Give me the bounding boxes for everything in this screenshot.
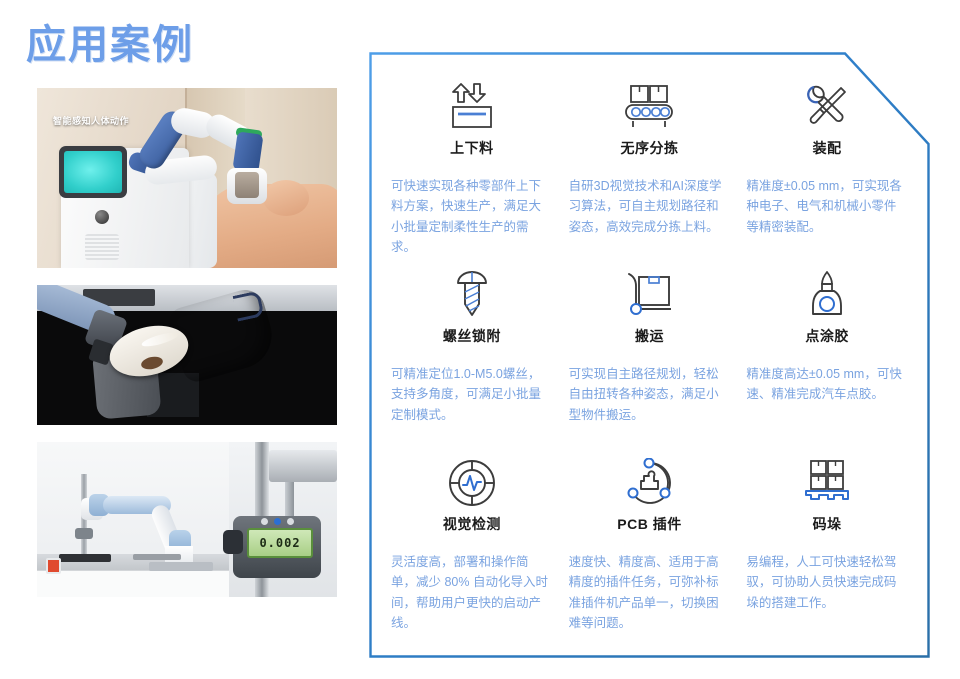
card-assembly[interactable]: 装配 精准度±0.05 mm，可实现各种电子、电气和机械小零件等精密装配。 [738, 78, 916, 266]
card-random-sorting[interactable]: 无序分拣 自研3D视觉技术和AI深度学习算法，可自主规划路径和姿态，高效完成分拣… [561, 78, 739, 266]
photo3-plate [149, 562, 213, 571]
card-description: 可精准定位1.0-M5.0螺丝，支持多角度，可满足小批量定制模式。 [391, 364, 553, 425]
card-title: PCB 插件 [617, 514, 681, 534]
card-description: 灵活度高，部署和操作简单，减少 80% 自动化导入时间，帮助用户更快的启动产线。 [391, 552, 553, 633]
photo3-dial-indicator-reading: 0.002 [247, 528, 313, 558]
photo3-cylinder [269, 450, 337, 482]
card-description: 精准度高达±0.05 mm，可快速、精准完成汽车点胶。 [746, 364, 908, 405]
photo3-plate-secondary [133, 554, 181, 560]
card-title: 无序分拣 [620, 138, 678, 158]
photo1-display-screen [64, 151, 122, 193]
glue-bottle-icon [805, 266, 849, 324]
card-vision-inspection[interactable]: 视觉检测 灵活度高，部署和操作简单，减少 80% 自动化导入时间，帮助用户更快的… [383, 454, 561, 642]
photo3-stand-base [59, 554, 111, 562]
photo1-end-effector-tool [235, 172, 259, 198]
card-title: 螺丝锁附 [443, 326, 501, 346]
vision-inspection-icon [447, 454, 497, 512]
card-title: 上下料 [450, 138, 494, 158]
photo1-display-bezel [59, 146, 127, 198]
card-palletizing[interactable]: 码垛 易编程，人工可快速轻松驾驭，可协助人员快速完成码垛的搭建工作。 [738, 454, 916, 642]
photo3-emergency-button [46, 558, 61, 574]
card-title: 点涂胶 [805, 326, 849, 346]
robot-arm-precision-gauge-photo: 0.002 [37, 442, 337, 597]
load-unload-icon [447, 78, 497, 136]
photo1-human-head [263, 180, 309, 216]
photo3-dial-indicator-buttons [261, 518, 297, 526]
card-title: 搬运 [635, 326, 664, 346]
card-description: 自研3D视觉技术和AI深度学习算法，可自主规划路径和姿态，高效完成分拣上料。 [569, 176, 731, 237]
conveyor-sorting-icon [622, 78, 676, 136]
capability-panel: 上下料 可快速实现各种零部件上下料方案，快速生产，满足大小批量定制柔性生产的需求… [369, 52, 930, 658]
card-title: 码垛 [813, 514, 842, 534]
card-handling[interactable]: 搬运 可实现自主路径规划，轻松自由扭转各种姿态，满足小型物件搬运。 [561, 266, 739, 454]
card-glue-dispensing[interactable]: 点涂胶 精准度高达±0.05 mm，可快速、精准完成汽车点胶。 [738, 266, 916, 454]
card-description: 可快速实现各种零部件上下料方案，快速生产，满足大小批量定制柔性生产的需求。 [391, 176, 553, 257]
photo1-arm-blue-end [232, 131, 263, 172]
pcb-puzzle-icon [623, 454, 675, 512]
wrench-screwdriver-icon [801, 78, 853, 136]
capability-grid: 上下料 可快速实现各种零部件上下料方案，快速生产，满足大小批量定制柔性生产的需求… [369, 52, 930, 658]
robot-arm-pouring-photo [37, 285, 337, 425]
screw-icon [450, 266, 494, 324]
photo1-cabinet-knob [95, 210, 109, 224]
photo3-stand-collar [75, 528, 93, 539]
card-load-unload[interactable]: 上下料 可快速实现各种零部件上下料方案，快速生产，满足大小批量定制柔性生产的需求… [383, 78, 561, 266]
card-pcb-insertion[interactable]: PCB 插件 速度快、精度高、适用于高精度的插件任务，可弥补标准插件机产品单一，… [561, 454, 739, 642]
card-title: 装配 [813, 138, 842, 158]
photo3-gauge-stem [285, 482, 294, 520]
photo-column: 智能感知人体动作 [37, 88, 337, 597]
card-description: 易编程，人工可快速轻松驾驭，可协助人员快速完成码垛的搭建工作。 [746, 552, 908, 613]
card-description: 速度快、精度高、适用于高精度的插件任务，可弥补标准插件机产品单一，切换困难等问题… [569, 552, 731, 633]
photo1-cabinet-vent [85, 234, 119, 260]
card-description: 精准度±0.05 mm，可实现各种电子、电气和机械小零件等精密装配。 [746, 176, 908, 237]
card-title: 视觉检测 [443, 514, 501, 534]
hand-truck-icon [623, 266, 675, 324]
photo1-caption: 智能感知人体动作 [53, 114, 129, 127]
photo3-table-front [37, 570, 229, 597]
photo3-dial-indicator-knob [223, 530, 243, 554]
palletizing-icon [800, 454, 854, 512]
card-description: 可实现自主路径规划，轻松自由扭转各种姿态，满足小型物件搬运。 [569, 364, 731, 425]
page-title: 应用案例 [26, 12, 194, 70]
robot-arm-human-motion-photo: 智能感知人体动作 [37, 88, 337, 268]
card-screw-locking[interactable]: 螺丝锁附 可精准定位1.0-M5.0螺丝，支持多角度，可满足小批量定制模式。 [383, 266, 561, 454]
